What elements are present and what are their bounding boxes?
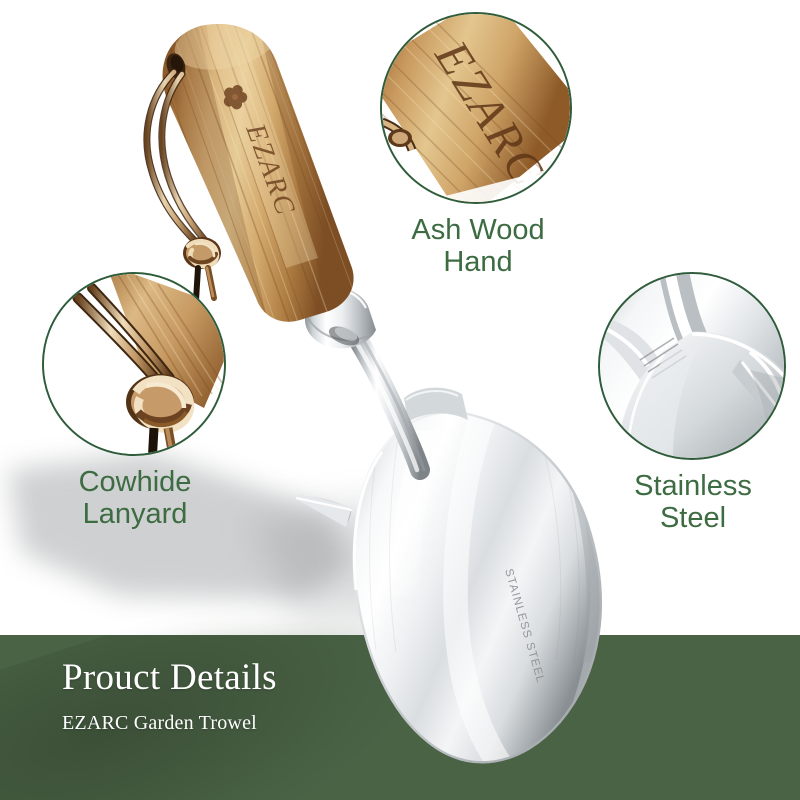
leather-knot-closeup-icon <box>42 272 226 456</box>
callout-label-stainless-steel: Stainless Steel <box>598 470 788 535</box>
blade-closeup-icon <box>598 272 786 460</box>
callout-label-ash-wood-hand: Ash Wood Hand <box>380 214 576 279</box>
wood-handle-closeup-icon: EZARC <box>380 12 572 204</box>
callout-ash-wood-hand: EZARC Ash Wood Hand <box>380 12 576 279</box>
callout-cowhide-lanyard: Cowhide Lanyard <box>42 272 228 531</box>
lanyard-knot <box>183 237 221 269</box>
product-detail-image: STAINLESS STEEL <box>0 0 800 800</box>
callout-label-cowhide-lanyard: Cowhide Lanyard <box>42 466 228 531</box>
callout-stainless-steel: Stainless Steel <box>598 272 788 535</box>
